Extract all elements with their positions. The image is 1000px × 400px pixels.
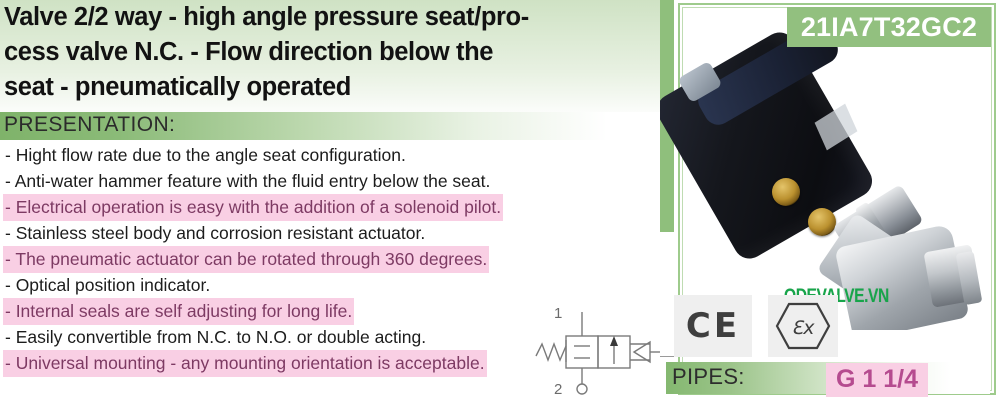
- brass-port-upper: [772, 178, 800, 206]
- bullet-text: - Stainless steel body and corrosion res…: [3, 220, 427, 247]
- brass-port-lower: [808, 208, 836, 236]
- pilot-actuator-icon: [634, 342, 650, 362]
- list-item: - Stainless steel body and corrosion res…: [0, 220, 660, 246]
- pipes-label: PIPES:: [672, 364, 745, 390]
- bullet-text-highlighted: - The pneumatic actuator can be rotated …: [3, 246, 489, 273]
- valve-position-closed: [566, 336, 598, 368]
- presentation-heading: PRESENTATION:: [4, 113, 175, 137]
- list-item: - The pneumatic actuator can be rotated …: [0, 246, 660, 272]
- port-2-label: 2: [554, 381, 562, 398]
- atex-ex-mark: Ɛx: [768, 295, 838, 357]
- list-item: - Anti-water hammer feature with the flu…: [0, 168, 660, 194]
- ce-mark-label: CE: [686, 306, 740, 346]
- bullet-text-highlighted: - Internal seals are self adjusting for …: [3, 298, 354, 325]
- bullet-text-highlighted: - Universal mounting - any mounting orie…: [3, 350, 487, 377]
- product-code-badge: 21IA7T32GC2: [787, 7, 991, 47]
- list-item: - Optical position indicator.: [0, 272, 660, 298]
- bullet-text: - Optical position indicator.: [3, 272, 212, 299]
- pneumatic-symbol-diagram: 1 2: [524, 300, 660, 400]
- list-item: - Electrical operation is easy with the …: [0, 194, 660, 220]
- left-info-panel: Valve 2/2 way - high angle pressure seat…: [0, 0, 660, 400]
- title-line-3: seat - pneumatically operated: [4, 70, 654, 105]
- ex-text: Ɛx: [792, 317, 816, 339]
- bullet-text-highlighted: - Electrical operation is easy with the …: [3, 194, 503, 221]
- atex-hexagon-icon: Ɛx: [774, 300, 832, 352]
- divider-line: [660, 356, 674, 357]
- ce-mark: CE: [674, 295, 752, 357]
- list-item: - Hight flow rate due to the angle seat …: [0, 142, 660, 168]
- valve-product-image: [660, 30, 1000, 330]
- page-title: Valve 2/2 way - high angle pressure seat…: [4, 0, 654, 105]
- spring-icon: [536, 344, 566, 360]
- product-datasheet-page: Valve 2/2 way - high angle pressure seat…: [0, 0, 1000, 400]
- port-1-label: 1: [554, 305, 562, 322]
- bullet-text: - Hight flow rate due to the angle seat …: [3, 142, 408, 169]
- port-2-circle: [577, 384, 587, 394]
- bullet-text: - Anti-water hammer feature with the flu…: [3, 168, 492, 195]
- flow-arrow-icon: [610, 336, 618, 346]
- valve-symbol-svg: 1 2: [524, 300, 660, 400]
- title-line-1: Valve 2/2 way - high angle pressure seat…: [4, 0, 654, 35]
- bullet-text: - Easily convertible from N.C. to N.O. o…: [3, 324, 428, 351]
- title-line-2: cess valve N.C. - Flow direction below t…: [4, 35, 654, 70]
- pipes-value: G 1 1/4: [826, 363, 928, 397]
